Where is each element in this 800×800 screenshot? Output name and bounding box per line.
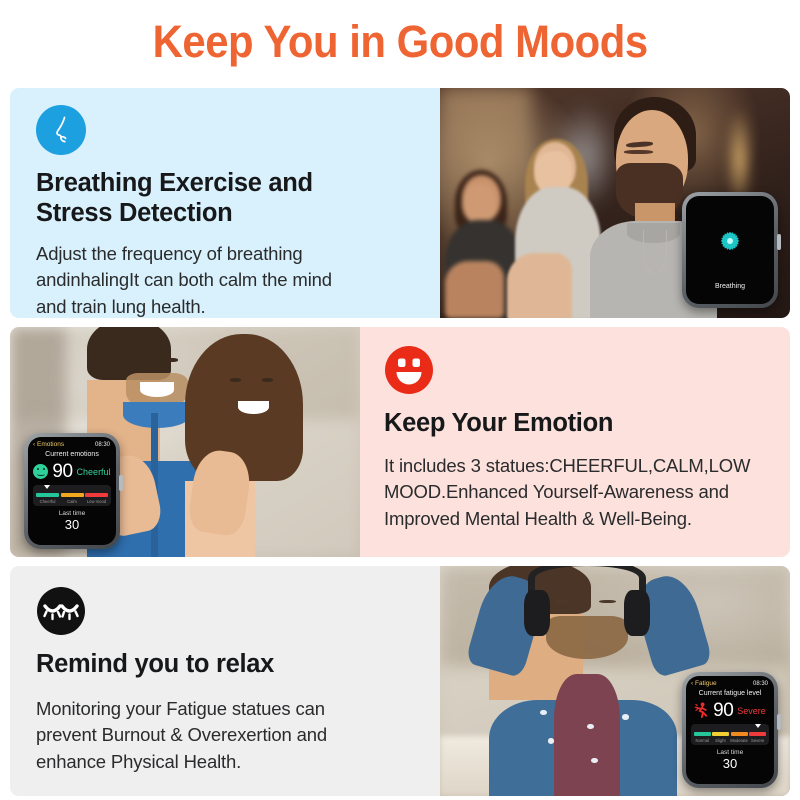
watch-breathing-label: Breathing — [686, 283, 774, 290]
watch-crown[interactable] — [777, 234, 781, 250]
panel-text-breathing: Breathing Exercise and Stress Detection … — [10, 88, 440, 318]
watch-back-label[interactable]: ‹ Fatigue — [691, 680, 717, 687]
title-bar: Keep You in Good Moods — [0, 0, 800, 84]
watch-score: 90 — [713, 701, 733, 720]
smartwatch-emotions[interactable]: ‹ Emotions 08:30 Current emotions 90 Che… — [24, 433, 120, 549]
cheerful-emoji-icon — [33, 464, 48, 479]
panel-body-emotion: It includes 3 statues:CHEERFUL,CALM,LOW … — [384, 453, 768, 532]
segment-label: Cheerful — [36, 499, 59, 504]
panel-photo-meditation: Breathing — [440, 88, 790, 318]
watch-status: Severe — [737, 706, 766, 716]
panel-photo-couple: ‹ Emotions 08:30 Current emotions 90 Che… — [10, 327, 360, 557]
watch-subtitle: Current fatigue level — [686, 690, 774, 697]
watch-lasttime-value: 30 — [686, 756, 774, 771]
watch-reading: 90 Cheerful — [28, 462, 116, 481]
smartwatch-fatigue[interactable]: ‹ Fatigue 08:30 Current fatigue level — [682, 672, 778, 788]
watch-level-bar-emotions: Cheerful Calm Low mood — [33, 485, 111, 506]
panel-heading-relax: Remind you to relax — [36, 649, 418, 679]
watch-screen-fatigue: ‹ Fatigue 08:30 Current fatigue level — [686, 676, 774, 784]
segment-label: Moderate — [730, 738, 748, 743]
watch-statusbar: ‹ Emotions 08:30 — [28, 437, 116, 448]
segment-label: Calm — [61, 499, 84, 504]
segment-label: Low mood — [85, 499, 108, 504]
smiley-face-icon — [384, 345, 434, 395]
watch-screen-emotions: ‹ Emotions 08:30 Current emotions 90 Che… — [28, 437, 116, 545]
watch-reading: 90 Severe — [686, 701, 774, 720]
feature-panel-relax: Remind you to relax Monitoring your Fati… — [10, 566, 790, 796]
panel-heading-breathing: Breathing Exercise and Stress Detection — [36, 168, 418, 228]
watch-subtitle: Current emotions — [28, 451, 116, 458]
segment-label: Severe — [749, 738, 766, 743]
infographic-page: Keep You in Good Moods Breathing Exercis… — [0, 0, 800, 800]
watch-statusbar: ‹ Fatigue 08:30 — [686, 676, 774, 687]
watch-clock: 08:30 — [753, 681, 768, 687]
watch-crown[interactable] — [119, 475, 123, 491]
panel-heading-emotion: Keep Your Emotion — [384, 408, 768, 438]
panel-photo-relaxing-man: ‹ Fatigue 08:30 Current fatigue level — [440, 566, 790, 796]
sleeping-eyes-icon — [36, 586, 86, 636]
watch-screen-breathing: Breathing — [686, 196, 774, 304]
page-title: Keep You in Good Moods — [152, 16, 647, 68]
panel-body-breathing: Adjust the frequency of breathing andinh… — [36, 241, 418, 318]
panel-body-relax: Monitoring your Fatigue statues can prev… — [36, 696, 418, 775]
level-marker — [755, 724, 761, 728]
watch-clock: 08:30 — [95, 442, 110, 448]
level-marker — [44, 485, 50, 489]
nose-breathing-icon — [36, 105, 86, 155]
feature-panel-emotion: Keep Your Emotion It includes 3 statues:… — [10, 327, 790, 557]
watch-lasttime-value: 30 — [28, 517, 116, 532]
feature-panel-breathing: Breathing Exercise and Stress Detection … — [10, 88, 790, 318]
watch-crown[interactable] — [777, 714, 781, 730]
watch-status: Cheerful — [77, 467, 111, 477]
watch-lasttime-label: Last time — [28, 510, 116, 517]
watch-back-label[interactable]: ‹ Emotions — [33, 441, 64, 448]
watch-lasttime-label: Last time — [686, 749, 774, 756]
smartwatch-breathing[interactable]: Breathing — [682, 192, 778, 308]
segment-label: Normal — [694, 738, 711, 743]
panel-text-relax: Remind you to relax Monitoring your Fati… — [10, 566, 440, 796]
watch-level-bar-fatigue: Normal Slight Moderate Severe — [691, 724, 769, 745]
running-person-icon — [694, 702, 709, 719]
panel-text-emotion: Keep Your Emotion It includes 3 statues:… — [360, 327, 790, 557]
segment-label: Slight — [712, 738, 729, 743]
watch-score: 90 — [52, 462, 72, 481]
breathing-flower-icon — [713, 224, 747, 258]
